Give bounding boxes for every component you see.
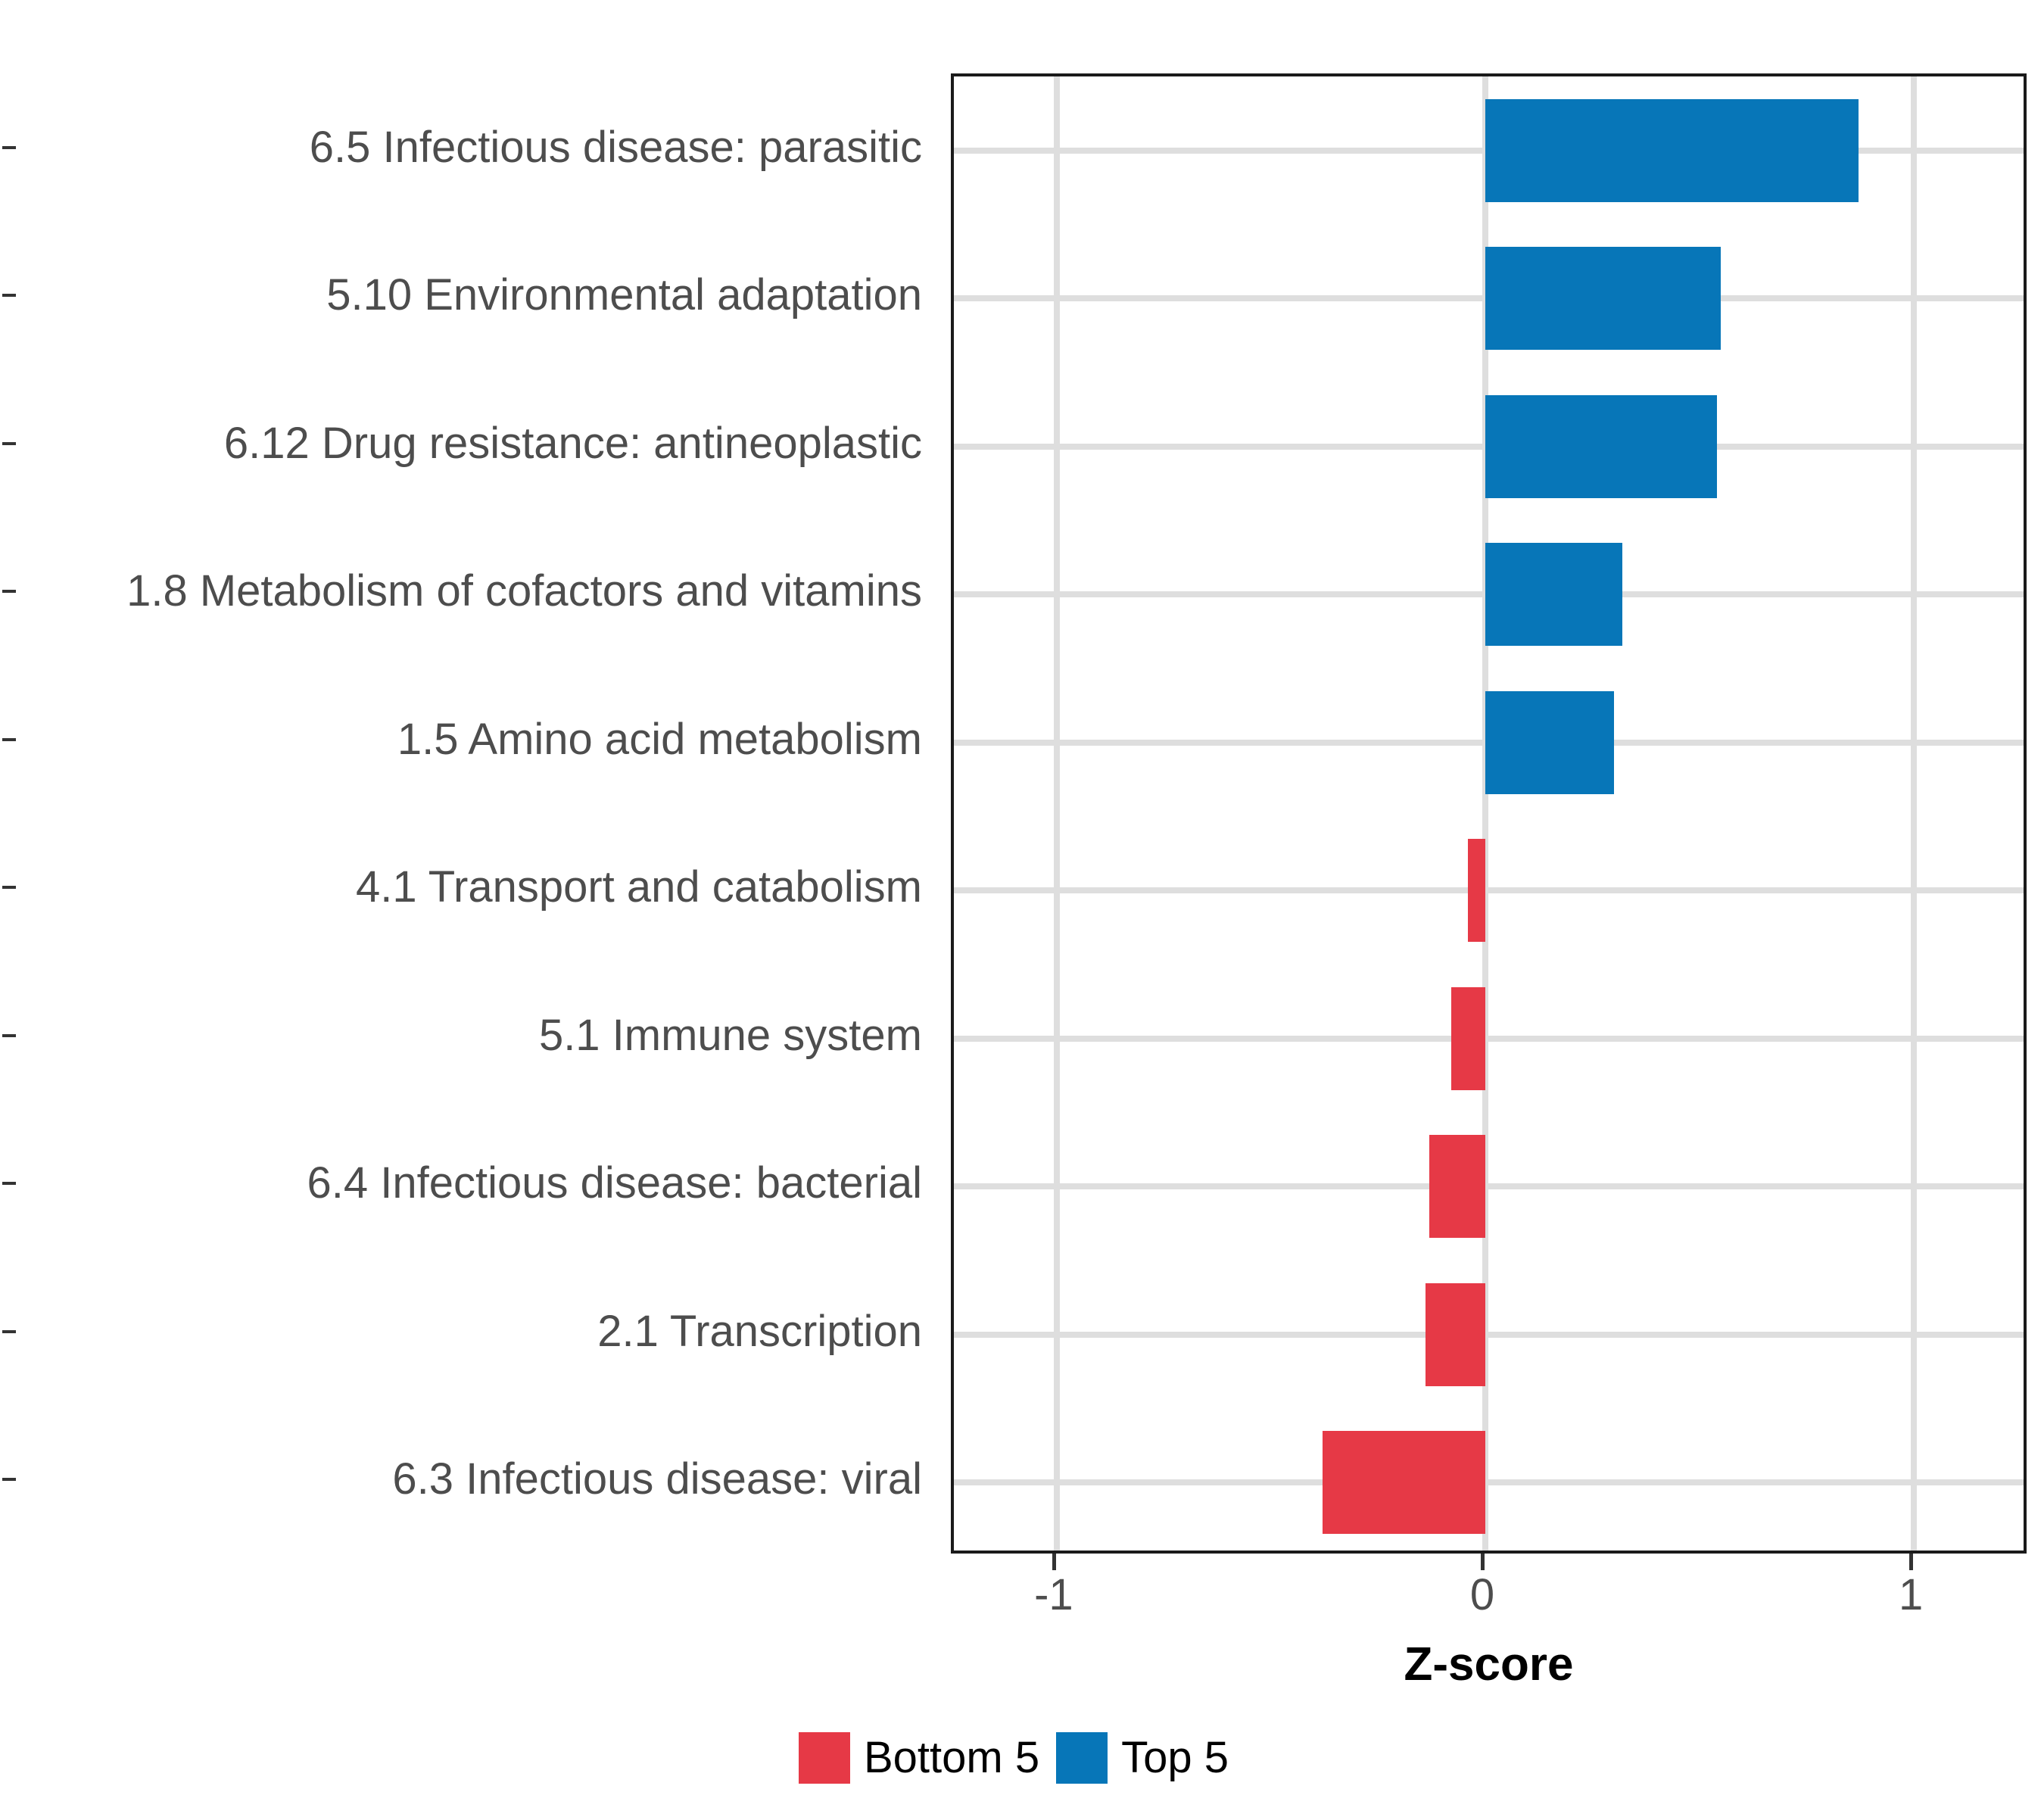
bar-1-5-amino-acid-metabolism [1485, 691, 1614, 794]
legend-entry-top-5[interactable]: Top 5 [1056, 1732, 1245, 1784]
bar-5-10-environmental-adaptation [1485, 247, 1721, 350]
y-axis-tick-mark [2, 146, 16, 149]
legend: Bottom 5Top 5 [0, 1732, 2044, 1784]
bar-6-4-infectious-disease-bacterial [1429, 1135, 1485, 1238]
bar-6-5-infectious-disease-parasitic [1485, 99, 1859, 202]
category-label: 6.5 Infectious disease: parasitic [310, 126, 928, 170]
x-axis-tick-label-1: 1 [1899, 1573, 1923, 1617]
x-axis-tick-label--1: -1 [1034, 1573, 1073, 1617]
y-axis-tick-mark [2, 442, 16, 445]
y-axis-tick-mark [2, 1478, 16, 1481]
gridline-horizontal-6-3-infectious-disease-viral [954, 1479, 2024, 1485]
bar-2-1-transcription [1426, 1283, 1485, 1386]
y-axis-tick-mark [2, 886, 16, 889]
y-axis-tick-mark [2, 590, 16, 593]
plot-panel [951, 73, 2027, 1554]
plot-area [954, 76, 2024, 1551]
gridline-horizontal-6-4-infectious-disease-bacterial [954, 1183, 2024, 1189]
x-axis-tick-label-0: 0 [1470, 1573, 1494, 1617]
legend-label: Bottom 5 [850, 1736, 1056, 1780]
gridline-horizontal-5-1-immune-system [954, 1036, 2024, 1042]
bar-6-3-infectious-disease-viral [1323, 1431, 1485, 1534]
legend-color-swatch-top-5 [1056, 1732, 1108, 1784]
legend-entry-bottom-5[interactable]: Bottom 5 [799, 1732, 1056, 1784]
legend-label: Top 5 [1108, 1736, 1245, 1780]
y-axis-tick-mark [2, 1034, 16, 1037]
category-label: 4.1 Transport and catabolism [356, 865, 928, 909]
y-axis-tick-mark [2, 1330, 16, 1333]
bar-6-12-drug-resistance-antineoplastic [1485, 395, 1717, 498]
category-label: 6.3 Infectious disease: viral [392, 1457, 928, 1501]
category-label: 1.5 Amino acid metabolism [397, 718, 928, 762]
x-axis-tick-mark-0 [1481, 1554, 1485, 1570]
category-label: 5.1 Immune system [539, 1014, 928, 1058]
x-axis-title: Z-score [951, 1641, 2027, 1688]
category-label: 6.12 Drug resistance: antineoplastic [224, 422, 928, 466]
y-axis-labels: 6.5 Infectious disease: parasitic5.10 En… [0, 73, 928, 1554]
category-label: 2.1 Transcription [597, 1310, 928, 1354]
category-label: 1.8 Metabolism of cofactors and vitamins [126, 569, 928, 613]
legend-color-swatch-bottom-5 [799, 1732, 850, 1784]
bar-4-1-transport-and-catabolism [1468, 839, 1485, 942]
x-axis-tick-mark--1 [1052, 1554, 1056, 1570]
y-axis-tick-mark [2, 738, 16, 741]
category-label: 6.4 Infectious disease: bacterial [307, 1161, 928, 1205]
bar-5-1-immune-system [1451, 987, 1485, 1090]
z-score-bar-chart: 6.5 Infectious disease: parasitic5.10 En… [0, 0, 2044, 1817]
gridline-horizontal-4-1-transport-and-catabolism [954, 887, 2024, 893]
category-label: 5.10 Environmental adaptation [326, 273, 928, 317]
x-axis-tick-mark-1 [1909, 1554, 1913, 1570]
bar-1-8-metabolism-of-cofactors-and-vitamins [1485, 543, 1622, 646]
gridline-horizontal-2-1-transcription [954, 1332, 2024, 1338]
y-axis-tick-mark [2, 294, 16, 297]
y-axis-tick-mark [2, 1182, 16, 1185]
